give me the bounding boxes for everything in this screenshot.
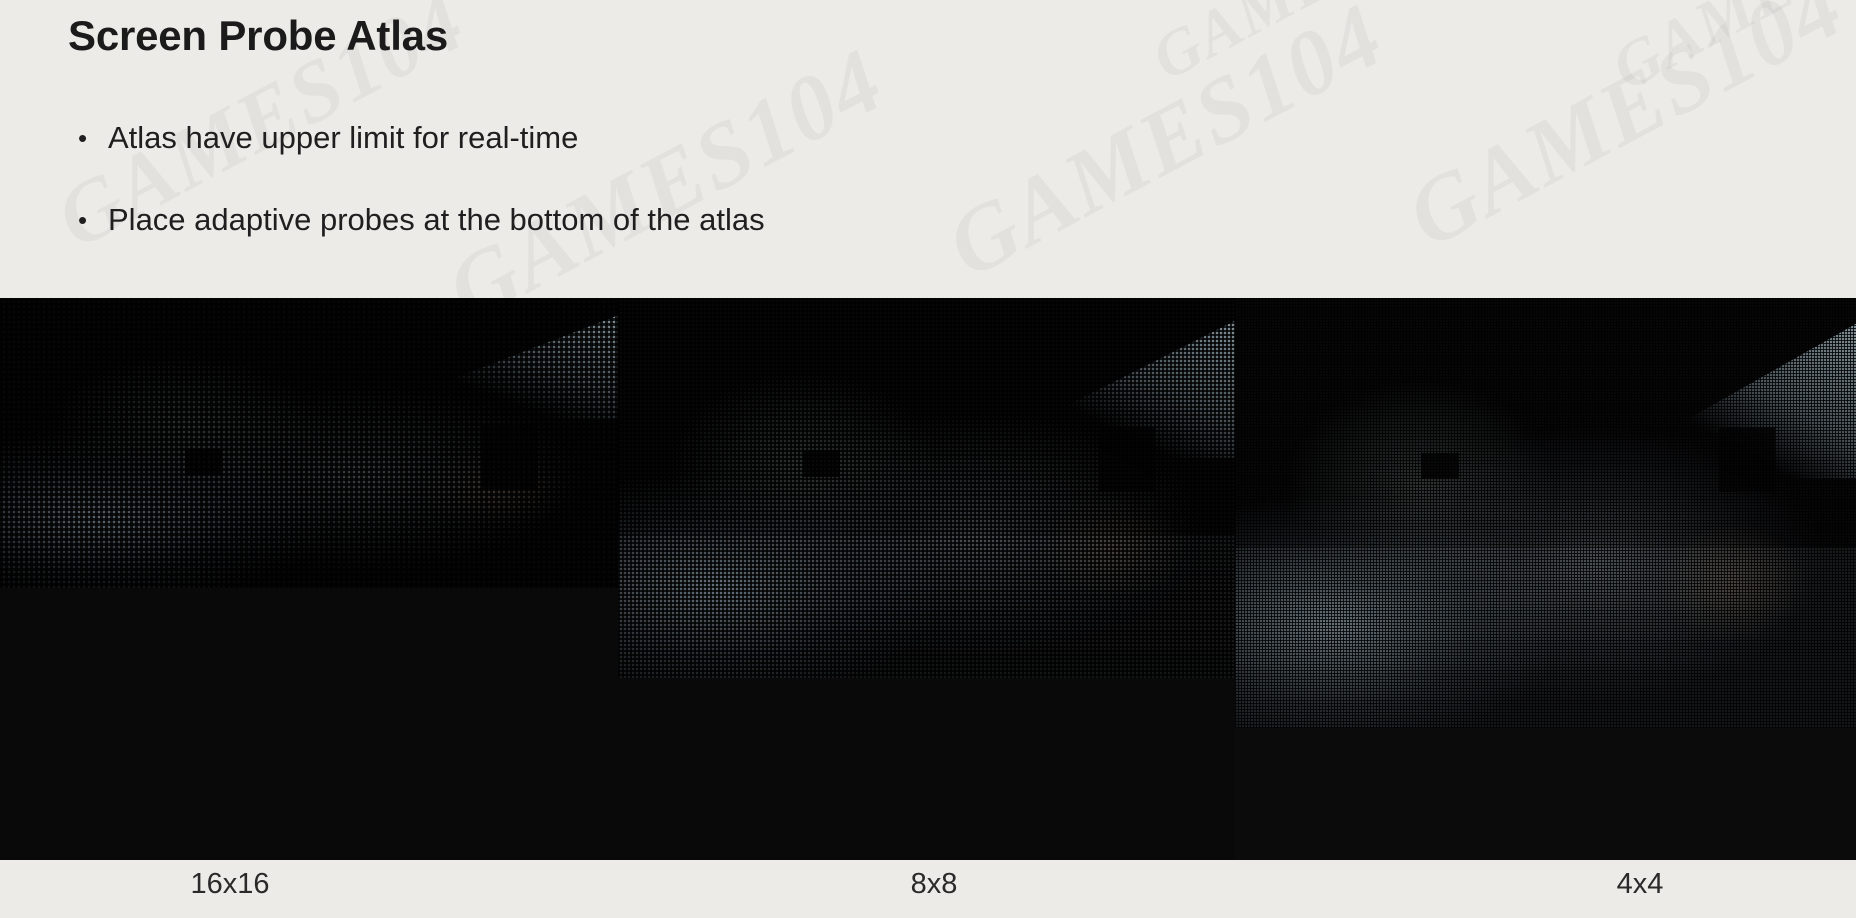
bullet-marker-icon: • xyxy=(78,120,108,156)
page-title: Screen Probe Atlas xyxy=(68,12,448,60)
probe-scene xyxy=(0,298,618,588)
render-canvas xyxy=(618,298,1235,860)
bullet-list: • Atlas have upper limit for real-time •… xyxy=(78,120,1378,284)
probe-dot-grid xyxy=(1235,298,1856,728)
figure-caption-row: 16x16 8x8 4x4 xyxy=(0,860,1856,918)
unused-atlas-region xyxy=(0,588,618,860)
roofline-wedge xyxy=(964,321,1235,458)
bullet-text: Atlas have upper limit for real-time xyxy=(108,120,578,156)
adaptive-probe-region xyxy=(1235,547,1856,728)
list-item: • Atlas have upper limit for real-time xyxy=(78,120,1378,156)
render-canvas xyxy=(1235,298,1856,860)
atlas-render-16x16 xyxy=(0,298,618,860)
probe-scene xyxy=(618,298,1235,678)
probe-dot-grid xyxy=(618,298,1235,678)
window-block xyxy=(185,449,222,475)
window-block xyxy=(1099,427,1155,492)
unused-atlas-region xyxy=(618,678,1235,860)
window-block xyxy=(803,450,840,477)
slide-content: Screen Probe Atlas • Atlas have upper li… xyxy=(0,0,1856,298)
bullet-text: Place adaptive probes at the bottom of t… xyxy=(108,202,765,238)
window-block xyxy=(1421,453,1458,479)
adaptive-probe-region xyxy=(618,534,1235,678)
probe-dot-grid xyxy=(0,298,618,588)
render-canvas xyxy=(0,298,618,860)
roofline-wedge xyxy=(1583,324,1856,479)
bullet-marker-icon: • xyxy=(78,202,108,238)
window-block xyxy=(1719,427,1775,492)
probe-atlas-comparison-strip xyxy=(0,298,1856,860)
caption-16x16: 16x16 xyxy=(190,868,269,901)
window-block xyxy=(482,426,538,490)
roofline-wedge xyxy=(346,315,618,419)
atlas-render-4x4 xyxy=(1235,298,1856,860)
caption-4x4: 4x4 xyxy=(1617,868,1664,901)
atlas-render-8x8 xyxy=(618,298,1235,860)
presentation-slide: GAMES104 GAMES104 GAMES104 GAMES104 GAME… xyxy=(0,0,1856,918)
probe-scene xyxy=(1235,298,1856,728)
list-item: • Place adaptive probes at the bottom of… xyxy=(78,202,1378,238)
caption-8x8: 8x8 xyxy=(911,868,958,901)
